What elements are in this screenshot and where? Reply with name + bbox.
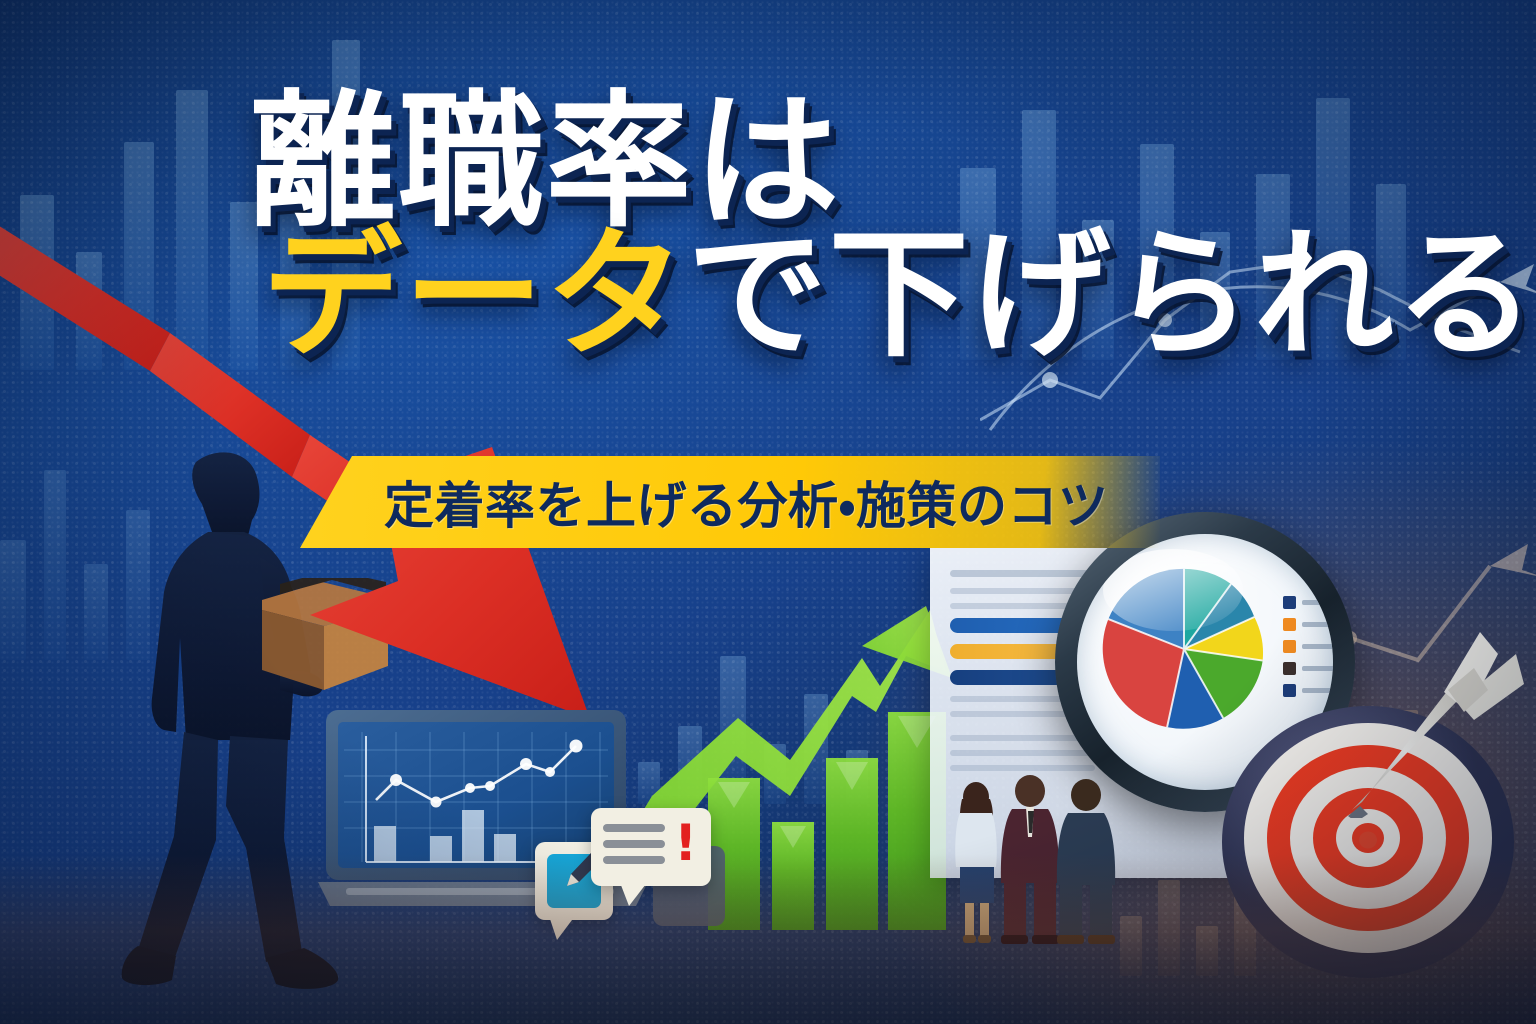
subtitle-text: 定着率を上げる分析・施策のコツ — [384, 466, 1109, 538]
subtitle-banner: 定着率を上げる分析・施策のコツ — [300, 456, 1160, 548]
legend-swatch — [1283, 640, 1296, 653]
legend-item — [1283, 596, 1333, 609]
headline-line-2: データで下げられる — [262, 228, 1310, 364]
legend-label-bar — [1302, 644, 1333, 649]
bubble-text-line — [603, 824, 665, 832]
headline-line-1: 離職率は — [250, 92, 1310, 234]
headline-block: 離職率は データで下げられる — [250, 92, 1310, 363]
person-woman — [955, 782, 997, 943]
dart — [1348, 628, 1528, 818]
headline-line-2-rest: で下げられる — [687, 214, 1536, 377]
legend-item — [1283, 640, 1333, 653]
legend-label-bar — [1302, 666, 1333, 671]
legend-label-bar — [1302, 600, 1333, 605]
legend-item — [1283, 618, 1333, 631]
person-man-maroon — [1001, 775, 1059, 944]
headline-accent-data: データ — [262, 214, 687, 377]
legend-swatch — [1283, 596, 1296, 609]
legend-swatch — [1283, 618, 1296, 631]
bubble-text-line — [603, 856, 665, 864]
legend-swatch — [1283, 662, 1296, 675]
exclamation-icon: ! — [674, 820, 697, 868]
legend-item — [1283, 662, 1333, 675]
speech-bubbles: ! — [535, 800, 725, 935]
hero-banner: ! 定着率を上げる分析・施策のコツ 離職率は データで下げられる — [0, 0, 1536, 1024]
person-man-navy — [1057, 779, 1115, 944]
legend-label-bar — [1302, 622, 1333, 627]
bubble-text-line — [603, 840, 665, 848]
bubble-tail — [549, 916, 575, 940]
business-people-group — [938, 775, 1138, 955]
alert-speech-bubble: ! — [591, 808, 711, 886]
bubble-tail — [619, 880, 649, 906]
